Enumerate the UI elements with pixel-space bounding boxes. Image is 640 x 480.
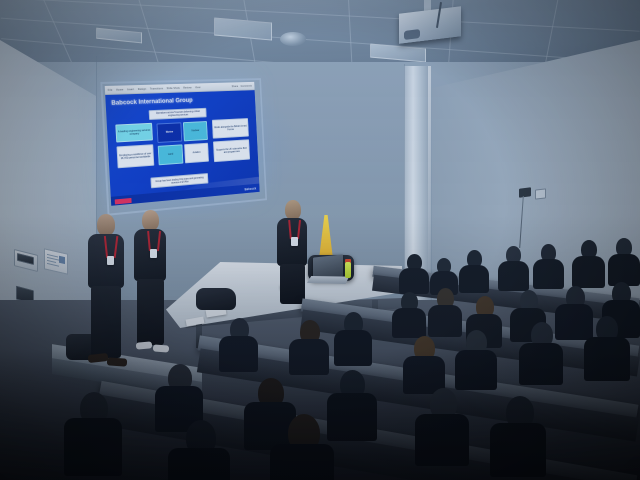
presentation-slide: Babcock International Group Operations a… [105,90,259,206]
comments-button[interactable]: Comments [241,84,253,87]
student-body [334,330,372,366]
slide-box-right-1: Works alongside the British Armed Forces [212,118,249,139]
shoe [153,344,169,352]
slide-box-centre-nuclear: Nuclear [183,121,208,141]
student-body [392,308,426,338]
student-body [459,265,489,293]
student-body [533,259,564,289]
head [97,214,115,236]
student-body [399,268,429,294]
slide-caption-top: Operations across 5 sectors delivering c… [149,108,207,120]
share-button[interactable]: Share [232,85,239,88]
ceiling-speaker-icon [280,32,306,46]
student-body [490,423,546,477]
menu-transitions[interactable]: Transitions [150,87,163,90]
student-body [572,256,605,288]
bag [196,288,236,310]
drink-bottle [345,262,351,278]
id-badge [107,256,114,265]
head [285,200,301,220]
student-body [584,337,630,381]
student-body [498,261,529,291]
slide-box-centre-land: Land [158,144,184,165]
slide-box-left-1: A leading engineering services company [115,123,153,143]
student-body [289,339,329,375]
data-port[interactable] [535,188,546,199]
menu-home[interactable]: Home [116,88,123,91]
legs [91,286,121,358]
student-body [219,336,258,372]
student-body [327,393,377,441]
legs [137,279,164,345]
menu-review[interactable]: Review [183,86,192,89]
head [142,210,159,231]
classroom-photo: File Home Insert Design Transitions Slid… [0,0,640,480]
student-body [608,254,640,286]
id-badge [291,237,298,246]
slide-box-left-2: Employing a workforce of over 26,700 per… [117,144,155,168]
student-body [168,448,230,480]
legs [280,264,305,304]
slide-box-centre-marine: Marine [157,122,183,143]
menu-design[interactable]: Design [138,87,147,90]
slide-title: Babcock International Group [111,97,197,108]
shoe [107,357,128,366]
menu-insert[interactable]: Insert [127,88,134,91]
menu-file[interactable]: File [108,88,113,91]
student-body [64,418,122,476]
menu-view[interactable]: View [195,86,201,89]
slide-box-right-2: Supports the UK submarine fleet and prog… [213,139,250,162]
student-body [555,304,593,340]
student-body [270,444,334,480]
slide-box-centre-aviation: Aviation [184,143,209,164]
shoe [136,341,153,349]
id-badge [150,249,157,258]
projection-screen[interactable]: File Home Insert Design Transitions Slid… [105,82,260,206]
power-socket[interactable] [519,187,531,197]
student-body [415,414,469,466]
student-body [455,350,497,390]
student-body [428,305,462,337]
laptop-screen [313,254,343,279]
menu-slideshow[interactable]: Slide Show [167,86,180,89]
laptop-keyboard [307,276,349,284]
student-body [519,343,563,385]
